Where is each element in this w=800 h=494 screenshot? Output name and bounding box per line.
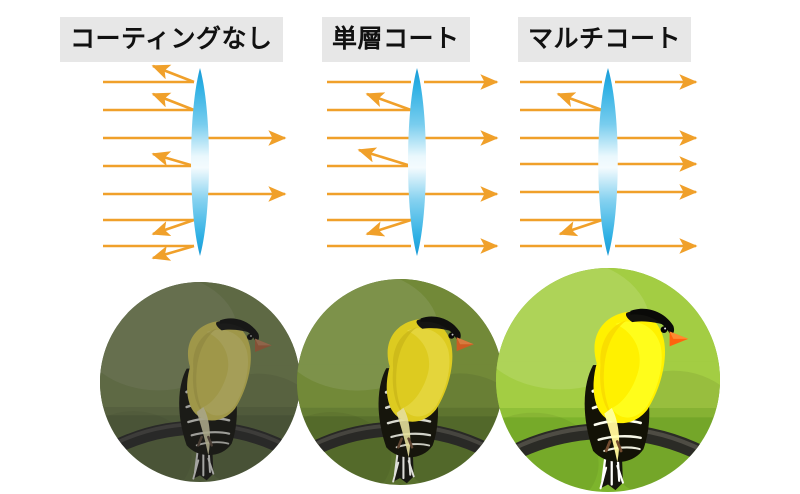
lens-diagram-no-coating: [95, 62, 295, 262]
column-label-no-coating: コーティングなし: [60, 17, 283, 62]
bird-photo-single-coat: [297, 279, 503, 485]
infographic-canvas: コーティングなし 単層コート マルチコート: [0, 0, 800, 494]
bird-photo-no-coating: [100, 282, 300, 482]
column-label-multi-coat: マルチコート: [518, 17, 691, 62]
lens-diagram-single-coat: [325, 62, 515, 262]
lens-diagram-multi-coat: [518, 62, 713, 262]
bird-photo-multi-coat: [496, 268, 720, 492]
column-label-single-coat: 単層コート: [322, 17, 470, 62]
